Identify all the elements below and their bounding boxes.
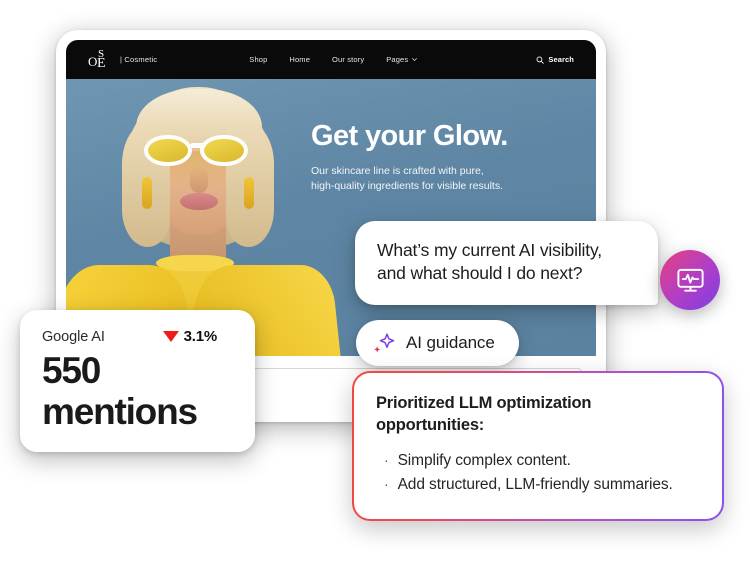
nav-item-our-story-label: Our story [332,55,364,64]
sunglasses-lens-right [200,135,248,166]
opportunity-text: Simplify complex content. [398,449,571,473]
model-nose [190,167,208,193]
nav-item-shop[interactable]: Shop [249,55,267,64]
sunglasses-lens-left [144,135,192,166]
ai-guidance-pill[interactable]: AI guidance [356,320,519,366]
brand-monogram-icon: O S E [88,49,113,71]
model-earring-left [142,177,152,209]
mentions-count: 550 [42,351,233,392]
list-item: · Simplify complex content. [376,449,700,473]
sunglasses-bridge [190,143,206,148]
monitor-pulse-icon [675,265,706,296]
hero-subtitle: Our skincare line is crafted with pure, … [311,164,581,194]
nav-item-home-label: Home [289,55,310,64]
chevron-down-icon [412,57,417,62]
nav-item-home[interactable]: Home [289,55,310,64]
opportunities-list: · Simplify complex content. · Add struct… [376,449,700,497]
site-top-nav: O S E | Cosmetic Shop Home Our story [66,40,596,79]
ai-guidance-label: AI guidance [406,333,495,353]
question-text: What’s my current AI visibility, and wha… [377,239,636,286]
mentions-unit: mentions [42,392,233,433]
search-icon [536,56,544,64]
model-lips [180,193,218,210]
llm-opportunities-card: Prioritized LLM optimization opportuniti… [352,371,724,521]
model-sunglasses [144,133,256,169]
nav-links: Shop Home Our story Pages [249,55,417,64]
question-chat-bubble: What’s my current AI visibility, and wha… [355,221,658,305]
question-line-1: What’s my current AI visibility, [377,239,636,262]
opportunities-title: Prioritized LLM optimization opportuniti… [376,393,700,437]
bullet-icon: · [384,449,389,472]
nav-item-our-story[interactable]: Our story [332,55,364,64]
opportunity-text: Add structured, LLM-friendly summaries. [398,473,673,497]
bullet-icon: · [384,473,389,496]
nav-search-button[interactable]: Search [536,55,574,64]
hero-subtitle-line-2: high-quality ingredients for visible res… [311,179,581,194]
sparkle-icon [372,331,396,355]
brand-logo[interactable]: O S E | Cosmetic [88,49,157,71]
google-ai-mentions-card: Google AI 3.1% 550 mentions [20,310,255,452]
mentions-trend: 3.1% [163,328,233,345]
opportunities-title-line-2: opportunities: [376,415,700,437]
model-earring-right [244,177,254,209]
nav-item-shop-label: Shop [249,55,267,64]
triangle-down-icon [163,331,179,342]
list-item: · Add structured, LLM-friendly summaries… [376,473,700,497]
nav-item-pages[interactable]: Pages [386,55,417,64]
brand-name: | Cosmetic [120,55,157,64]
hero-subtitle-line-1: Our skincare line is crafted with pure, [311,164,581,179]
logo-letter-o: O [88,55,97,68]
question-line-2: and what should I do next? [377,262,636,285]
nav-search-label: Search [548,55,574,64]
mentions-source-label: Google AI [42,329,105,345]
mentions-card-header: Google AI 3.1% [42,328,233,345]
nav-item-pages-label: Pages [386,55,408,64]
mentions-trend-value: 3.1% [184,328,217,345]
composition-stage: O S E | Cosmetic Shop Home Our story [0,0,750,563]
opportunities-title-line-1: Prioritized LLM optimization [376,393,700,415]
ai-monitor-badge[interactable] [660,250,720,310]
llm-opportunities-inner: Prioritized LLM optimization opportuniti… [354,373,722,519]
logo-letter-e: E [97,57,106,71]
hero-title: Get your Glow. [311,121,581,151]
hero-copy: Get your Glow. Our skincare line is craf… [311,121,581,194]
